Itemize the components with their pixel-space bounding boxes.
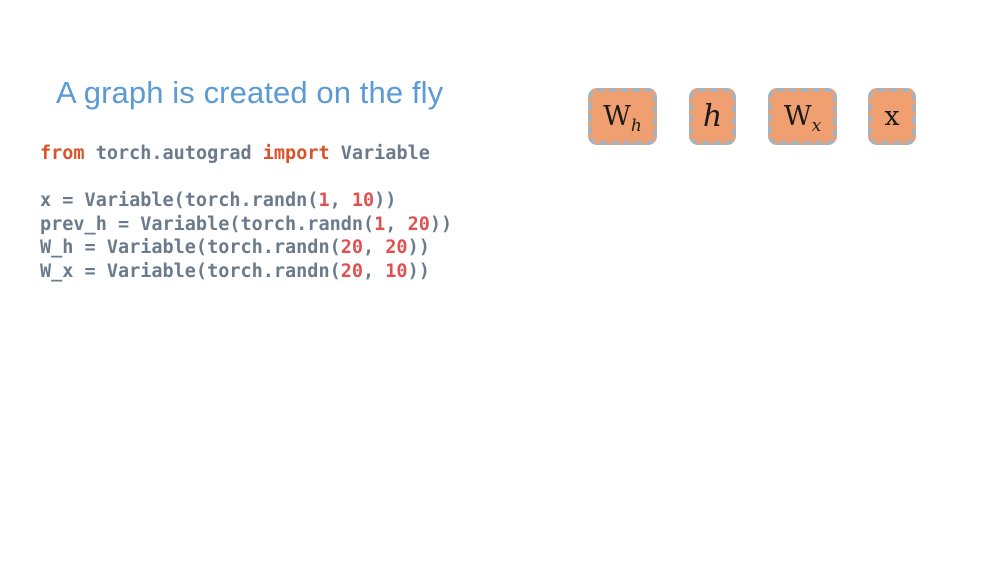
code-token: 20	[408, 214, 430, 235]
code-token: ))	[408, 237, 430, 258]
code-token: torch.autograd	[96, 143, 252, 164]
graph-node-wh[interactable]: Wh	[588, 88, 657, 145]
code-token: 20	[341, 261, 363, 282]
code-token: ,	[363, 237, 385, 258]
code-token: 1	[318, 190, 329, 211]
node-base-glyph: h	[703, 99, 722, 134]
graph-node-wh-label: Wh	[603, 103, 642, 130]
code-token: ,	[330, 190, 352, 211]
graph-node-x[interactable]: x	[868, 88, 916, 145]
code-token: 10	[352, 190, 374, 211]
graph-node-h[interactable]: h	[689, 88, 736, 145]
code-token: prev_h = Variable(torch.randn(	[40, 214, 374, 235]
code-token: 1	[374, 214, 385, 235]
code-token: ,	[363, 261, 385, 282]
graph-node-x-label: x	[884, 103, 899, 130]
node-base-glyph: W	[784, 101, 812, 132]
code-token: W_h = Variable(torch.randn(	[40, 237, 341, 258]
graph-node-h-label: h	[703, 102, 722, 132]
node-subscript-glyph: h	[631, 116, 642, 136]
code-token: Variable	[341, 143, 430, 164]
code-token: ))	[408, 261, 430, 282]
code-token	[85, 143, 96, 164]
code-token: from	[40, 143, 85, 164]
node-base-glyph: x	[884, 101, 899, 132]
code-token: import	[263, 143, 330, 164]
code-token: W_x = Variable(torch.randn(	[40, 261, 341, 282]
slide-canvas: A graph is created on the fly from torch…	[0, 0, 1000, 562]
node-subscript-glyph: x	[812, 116, 822, 136]
code-token	[252, 143, 263, 164]
code-token	[330, 143, 341, 164]
code-line-import-line: from torch.autograd import Variable	[40, 142, 452, 166]
code-token: x = Variable(torch.randn(	[40, 190, 318, 211]
code-token: 20	[385, 237, 407, 258]
code-line-w-x-line: W_x = Variable(torch.randn(20, 10))	[40, 260, 452, 284]
code-token: ))	[430, 214, 452, 235]
code-token: ,	[385, 214, 407, 235]
code-block: from torch.autograd import Variable x = …	[40, 142, 452, 283]
code-line-x-line: x = Variable(torch.randn(1, 10))	[40, 189, 452, 213]
code-token: ))	[374, 190, 396, 211]
node-base-glyph: W	[603, 101, 631, 132]
graph-node-wx[interactable]: Wx	[768, 88, 837, 145]
code-line-blank-line	[40, 166, 452, 190]
code-token: 20	[341, 237, 363, 258]
code-line-prev-h-line: prev_h = Variable(torch.randn(1, 20))	[40, 213, 452, 237]
page-title: A graph is created on the fly	[56, 74, 443, 112]
code-token: 10	[385, 261, 407, 282]
code-line-w-h-line: W_h = Variable(torch.randn(20, 20))	[40, 236, 452, 260]
graph-node-wx-label: Wx	[784, 103, 821, 130]
